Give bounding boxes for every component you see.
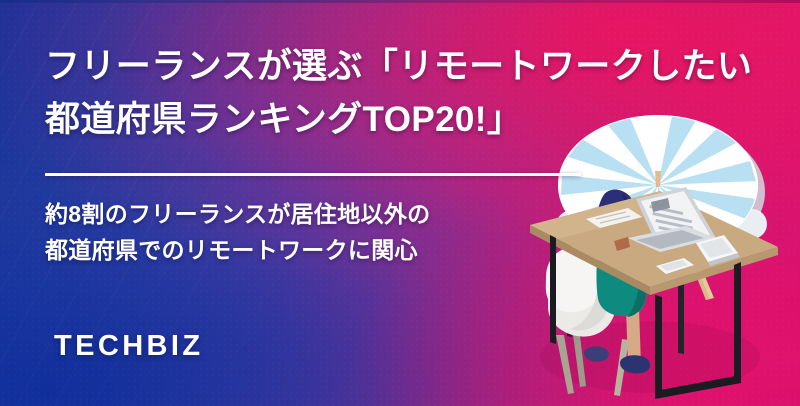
page-subtitle: 約8割のフリーランスが居住地以外の 都道府県でのリモートワークに関心 <box>45 196 605 268</box>
title-divider <box>45 173 581 176</box>
headline-line-1: フリーランスが選ぶ「リモートワークしたい <box>45 40 645 93</box>
page-title: フリーランスが選ぶ「リモートワークしたい 都道府県ランキングTOP20!」 <box>45 40 645 146</box>
subhead-line-1: 約8割のフリーランスが居住地以外の <box>45 196 605 232</box>
techbiz-logo: TECHBIZ <box>54 330 203 363</box>
text-content: フリーランスが選ぶ「リモートワークしたい 都道府県ランキングTOP20!」 約8… <box>0 0 800 406</box>
headline-line-2: 都道府県ランキングTOP20!」 <box>45 93 645 146</box>
promo-banner: フリーランスが選ぶ「リモートワークしたい 都道府県ランキングTOP20!」 約8… <box>0 0 800 406</box>
subhead-line-2: 都道府県でのリモートワークに関心 <box>45 232 605 268</box>
